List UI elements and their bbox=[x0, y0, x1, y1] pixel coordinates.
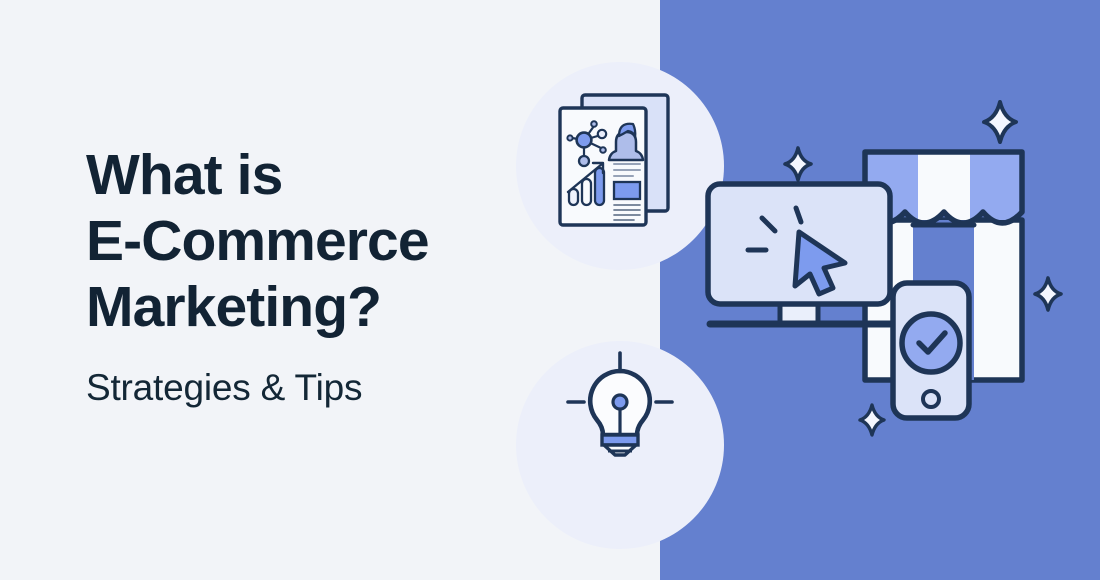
sparkle-icon bbox=[860, 405, 884, 435]
mobile-phone-icon bbox=[893, 283, 969, 418]
idea-lightbulb-badge bbox=[516, 341, 724, 549]
sparkle-icon bbox=[785, 148, 811, 180]
lightbulb-icon bbox=[516, 341, 724, 549]
headline-block: What is E-Commerce Marketing? Strategies… bbox=[86, 142, 556, 409]
page-title: What is E-Commerce Marketing? bbox=[86, 142, 556, 340]
ecommerce-marketing-banner: What is E-Commerce Marketing? Strategies… bbox=[0, 0, 1100, 580]
sparkle-icon bbox=[984, 102, 1016, 142]
report-document-badge bbox=[516, 62, 724, 270]
sparkle-icon bbox=[1035, 278, 1061, 310]
success-check-badge bbox=[902, 314, 960, 372]
ecommerce-illustration bbox=[700, 80, 1100, 480]
page-subtitle: Strategies & Tips bbox=[86, 340, 556, 409]
home-button bbox=[923, 391, 939, 407]
desktop-monitor-icon bbox=[708, 184, 890, 325]
document-report-icon bbox=[516, 62, 724, 270]
